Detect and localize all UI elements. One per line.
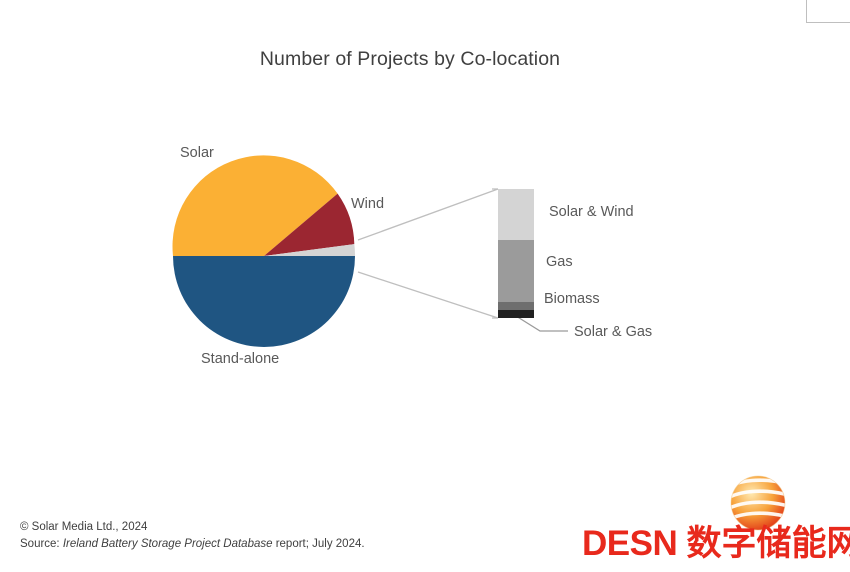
footer-source: Source: Ireland Battery Storage Project … xyxy=(20,536,365,553)
pie-chart xyxy=(172,164,356,348)
page-title: Number of Projects by Co-location xyxy=(0,48,820,71)
footer-source-suffix: report; July 2024. xyxy=(273,538,365,550)
bar-segment-solar-and-wind[interactable] xyxy=(498,189,534,240)
bar-label-solar-and-gas: Solar & Gas xyxy=(574,324,652,340)
pie-label-stand-alone: Stand-alone xyxy=(201,351,279,367)
bar-label-gas: Gas xyxy=(546,254,573,270)
bar-segment-solar-and-gas[interactable] xyxy=(498,310,534,318)
watermark-latin: DESN xyxy=(582,524,677,563)
footer-credits: © Solar Media Ltd., 2024 Source: Ireland… xyxy=(20,519,365,553)
corner-bracket-decoration xyxy=(806,0,850,23)
bar-segment-biomass[interactable] xyxy=(498,302,534,310)
bar-label-solar-and-wind: Solar & Wind xyxy=(549,204,634,220)
watermark-text: DESN 数字储能网 xyxy=(582,525,850,563)
footer-copyright: © Solar Media Ltd., 2024 xyxy=(20,519,365,536)
desn-watermark: DESN 数字储能网 xyxy=(582,473,840,565)
watermark-chinese: 数字储能网 xyxy=(686,524,850,563)
slide-canvas: Number of Projects by Co-location Solar xyxy=(0,0,850,572)
pie-slice-stand-alone[interactable] xyxy=(173,256,355,347)
stacked-bar-breakdown xyxy=(498,189,534,318)
globe-icon xyxy=(730,475,786,531)
bar-label-biomass: Biomass xyxy=(544,291,600,307)
footer-source-title: Ireland Battery Storage Project Database xyxy=(63,538,273,550)
pie-label-solar: Solar xyxy=(180,145,214,161)
bar-segment-gas[interactable] xyxy=(498,240,534,302)
pie-label-wind: Wind xyxy=(351,196,384,212)
footer-source-prefix: Source: xyxy=(20,538,63,550)
